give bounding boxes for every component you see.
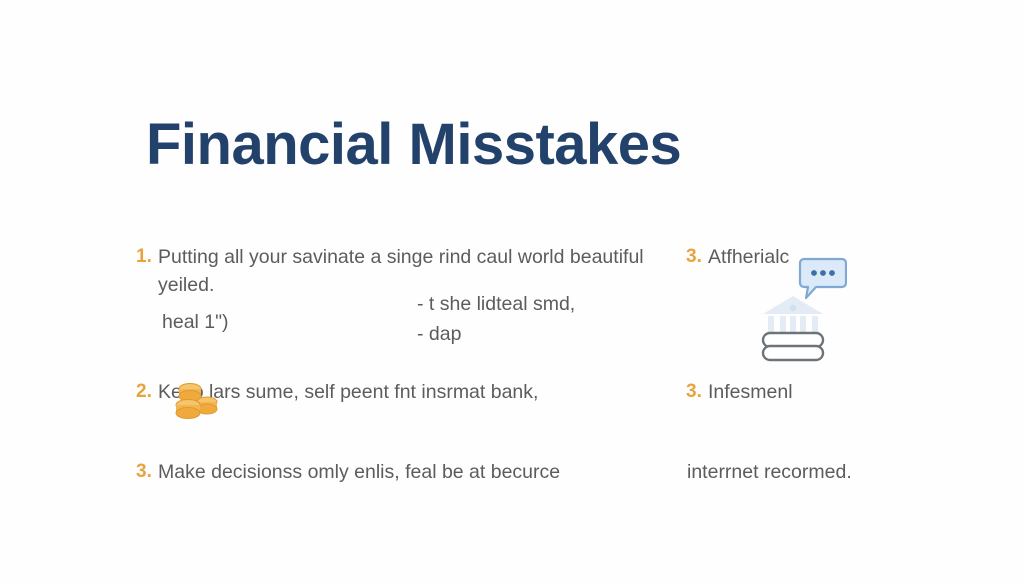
page-title: Financial Misstakes [146,113,681,178]
subline-group-left: heal 1") [162,309,412,337]
right-column-tail-text: interrnet recormed. [687,459,987,487]
list-item-number: 1. [136,244,158,271]
list-item: 2. Keep lars sume, self peent fnt insrma… [136,379,666,407]
stacked-discs-icon [763,333,823,360]
list-item-number: 3. [686,379,708,406]
list-item-text: Infesmenl [708,379,986,407]
subline: - dap [417,321,677,349]
bank-building-icon [757,292,829,364]
list-item-number: 3. [686,244,708,271]
subline: heal 1") [162,309,412,337]
list-item-text: Make decisionss omly enlis, feal be at b… [158,459,676,487]
list-item-text: Atfherialc [708,244,986,272]
subline-group-right: - t she lidteal smd, - dap [417,291,677,348]
subline: - t she lidteal smd, [417,291,677,319]
slide-canvas: Financial Misstakes 1. Putting all your … [0,0,1024,585]
list-item-text: Keep lars sume, self peent fnt insrmat b… [158,379,666,407]
slide-content: Financial Misstakes 1. Putting all your … [0,0,1024,585]
list-item-number: 2. [136,379,158,406]
list-item: 3. Make decisionss omly enlis, feal be a… [136,459,676,487]
list-item: 3. Infesmenl [686,379,986,407]
list-item-number: 3. [136,459,158,486]
